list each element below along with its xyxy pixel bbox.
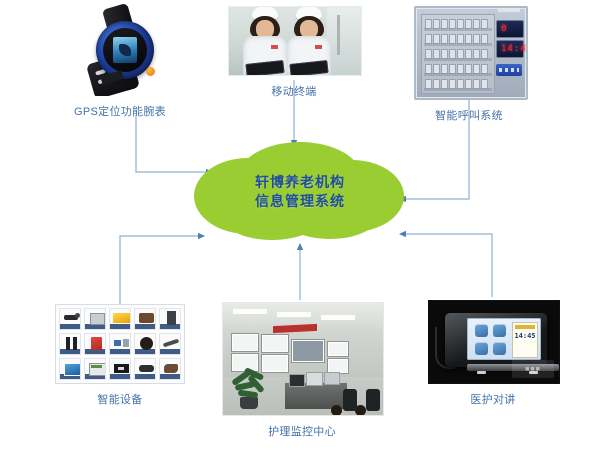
panel-row [422, 47, 494, 62]
wall-screen-main [291, 339, 325, 363]
sensor-kit-icon [110, 334, 130, 349]
led-value-secondary: 14:45 [501, 44, 528, 54]
nurse-left [243, 7, 289, 75]
led-display-primary: 0 [496, 20, 524, 38]
potted-plant [231, 369, 267, 409]
intercom-clock-value: 14:45 [513, 332, 537, 340]
device-tile [84, 308, 106, 330]
panel-brand-strip [498, 8, 520, 12]
desk-monitor [289, 374, 305, 387]
device-tile [59, 333, 81, 355]
node-label-smart-devices: 智能设备 [55, 393, 185, 407]
panel-row [422, 32, 494, 47]
device-tile [134, 333, 156, 355]
led-display-secondary: 14:45 [496, 40, 524, 58]
watch-body [96, 21, 154, 79]
app-icon [475, 342, 488, 355]
panel-row [422, 17, 494, 32]
display-unit-icon [85, 359, 105, 374]
device-tile [109, 308, 131, 330]
camera-icon [60, 309, 80, 324]
tablet-device [245, 60, 284, 76]
node-label-monitor-center: 护理监控中心 [222, 425, 382, 439]
node-smart-call-system[interactable]: 0 14:45 智能呼叫系统 [414, 6, 524, 96]
node-medical-intercom[interactable]: 14:45 ■■■ 医护对讲 [428, 300, 558, 382]
panel-row [422, 62, 494, 77]
panel-display-column: 0 14:45 [496, 14, 522, 92]
office-chair [366, 389, 380, 411]
device-tile [159, 308, 181, 330]
intercom-foot [477, 371, 486, 374]
monitor-device-icon [85, 309, 105, 324]
desk-monitor [324, 372, 340, 385]
cloud-title: 轩博养老机构 信息管理系统 [192, 173, 408, 211]
nurse-right [287, 7, 333, 75]
device-tile [159, 358, 181, 380]
clock-widget: 14:45 [512, 322, 538, 358]
device-tile [84, 333, 106, 355]
watermark: ■■■ [512, 360, 554, 378]
monitor-center-image [222, 302, 384, 416]
watch-screen [113, 37, 137, 63]
wearable-icon [135, 334, 155, 349]
panel-switch-grid [421, 14, 495, 94]
call-panel-image: 0 14:45 [414, 6, 528, 100]
office-chair [343, 389, 357, 411]
device-tile [84, 358, 106, 380]
plant-pot [240, 397, 258, 409]
accessory-icon [160, 359, 180, 374]
node-label-medical-intercom: 医护对讲 [428, 393, 558, 407]
device-tile [134, 308, 156, 330]
led-value-primary: 0 [501, 24, 507, 34]
red-terminal-icon [85, 334, 105, 349]
handset-icon [160, 334, 180, 349]
yellow-panel-icon [110, 309, 130, 324]
battery-pair-icon [60, 334, 80, 349]
app-icon [475, 324, 488, 337]
node-smart-devices[interactable]: 智能设备 [55, 304, 185, 384]
node-nursing-monitor-center[interactable]: 护理监控中心 [222, 302, 382, 414]
panel-row [422, 77, 494, 92]
wall-screen [231, 333, 259, 352]
node-label-gps-watch: GPS定位功能腕表 [66, 105, 174, 119]
app-icon [493, 324, 506, 337]
app-icon [493, 342, 506, 355]
device-tile [109, 333, 131, 355]
device-tile [109, 358, 131, 380]
device-tile [134, 358, 156, 380]
intercom-image: 14:45 ■■■ [428, 300, 560, 384]
cabinet-icon [160, 309, 180, 324]
panel-keypad [496, 64, 522, 76]
tablet-device [289, 60, 328, 76]
cloud-title-line1: 轩博养老机构 [192, 173, 408, 192]
node-mobile-terminal[interactable]: 移动终端 [228, 6, 360, 74]
device-tile [59, 358, 81, 380]
watch-sos-button [146, 67, 155, 76]
desk-monitor [306, 372, 323, 386]
device-tile [159, 333, 181, 355]
central-system-node[interactable]: 轩博养老机构 信息管理系统 [192, 143, 408, 243]
nurse-badge [271, 45, 278, 49]
smart-devices-catalog-image [55, 304, 185, 384]
mobile-terminal-image [228, 6, 362, 76]
gps-watch-image [66, 4, 174, 96]
intercom-body: 14:45 [445, 313, 547, 367]
cloud-title-line2: 信息管理系统 [192, 192, 408, 211]
tablet-screen-icon [60, 359, 80, 374]
diagram-canvas: 轩博养老机构 信息管理系统 GPS定位功能腕表 [0, 0, 600, 450]
node-label-smart-call-system: 智能呼叫系统 [414, 109, 524, 123]
intercom-touchscreen: 14:45 [467, 318, 541, 360]
node-label-mobile-terminal: 移动终端 [228, 85, 360, 99]
watch-bezel [103, 28, 147, 72]
nurse-badge [315, 45, 322, 49]
binocular-icon [135, 359, 155, 374]
device-tile [59, 308, 81, 330]
wall-screen [261, 334, 289, 353]
black-box-icon [110, 359, 130, 374]
node-gps-watch[interactable]: GPS定位功能腕表 [66, 4, 174, 96]
control-box-icon [135, 309, 155, 324]
wall-screen [327, 341, 349, 357]
